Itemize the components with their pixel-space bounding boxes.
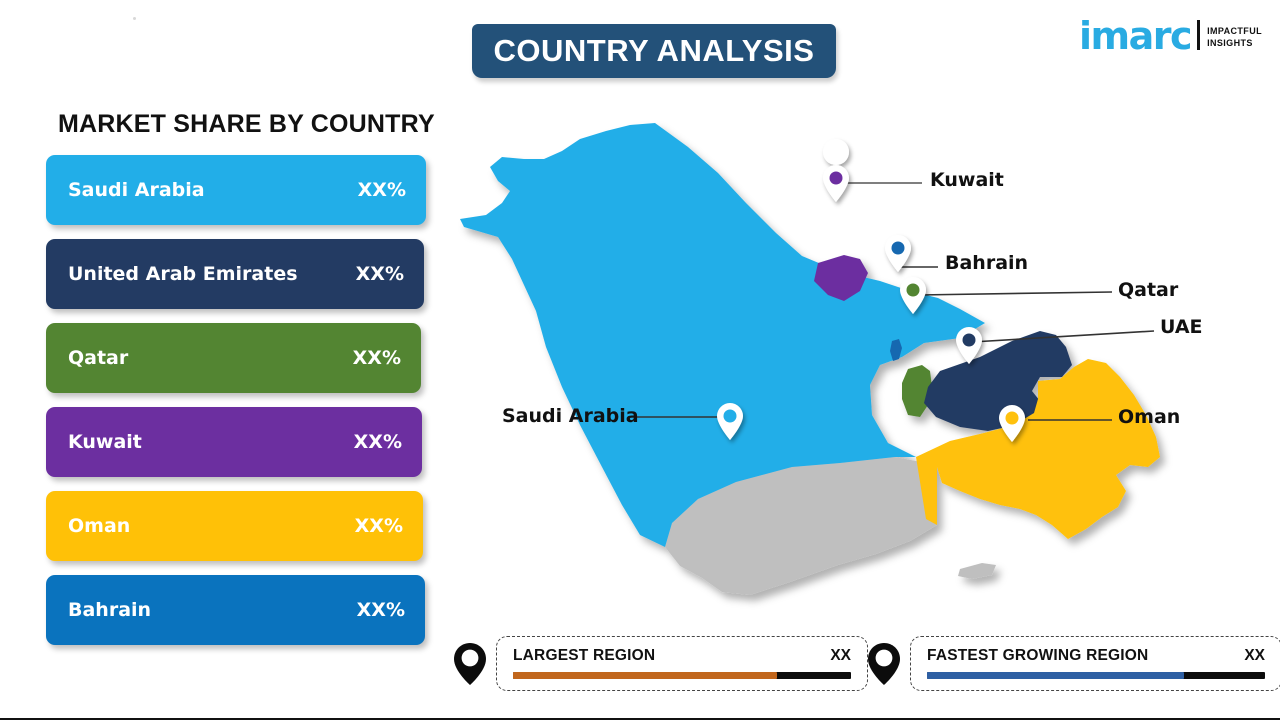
logo-tagline-bottom: INSIGHTS (1207, 37, 1262, 49)
page-title: COUNTRY ANALYSIS (494, 33, 815, 69)
map-label-kuwait: Kuwait (930, 169, 1004, 191)
map-label-oman: Oman (1118, 406, 1180, 428)
market-share-bar-list: Saudi ArabiaXX%United Arab EmiratesXX%Qa… (46, 155, 436, 659)
market-share-bar-value: XX% (355, 515, 403, 537)
fastest-region-value: XX (1244, 647, 1265, 665)
logo-divider (1197, 20, 1200, 50)
market-share-bar-label: Oman (68, 515, 130, 537)
market-share-bar-label: Kuwait (68, 431, 142, 453)
map-pin-icon (452, 641, 488, 687)
gcc-map: KuwaitBahrainQatarUAESaudi ArabiaOman (440, 95, 1250, 635)
fastest-region-card: FASTEST GROWING REGION XX (910, 636, 1280, 691)
market-share-bar[interactable]: OmanXX% (46, 491, 423, 561)
largest-region-label: LARGEST REGION (513, 647, 655, 665)
logo-wordmark: imarc (1079, 18, 1191, 54)
market-share-bar-label: Bahrain (68, 599, 151, 621)
largest-region-fill (513, 672, 777, 679)
market-share-bar-label: Qatar (68, 347, 128, 369)
imarc-logo: imarc IMPACTFUL INSIGHTS (1079, 12, 1262, 54)
fastest-region-label: FASTEST GROWING REGION (927, 647, 1148, 665)
logo-tagline: IMPACTFUL INSIGHTS (1207, 25, 1262, 49)
market-share-bar[interactable]: United Arab EmiratesXX% (46, 239, 424, 309)
largest-region-legend: LARGEST REGION XX (452, 636, 868, 691)
leader-line-uae (972, 331, 1154, 342)
market-share-bar-value: XX% (358, 179, 406, 201)
market-share-bar-value: XX% (353, 347, 401, 369)
fastest-region-fill (927, 672, 1184, 679)
largest-region-track (513, 672, 851, 679)
market-share-bar[interactable]: BahrainXX% (46, 575, 425, 645)
market-share-bar-label: United Arab Emirates (68, 263, 298, 285)
market-share-bar-value: XX% (357, 599, 405, 621)
map-pin-kuwait[interactable] (823, 139, 849, 202)
map-label-uae: UAE (1160, 316, 1203, 338)
leader-line-qatar (918, 292, 1112, 295)
slide-canvas: COUNTRY ANALYSIS imarc IMPACTFUL INSIGHT… (0, 0, 1280, 720)
decorative-speck (133, 17, 136, 20)
market-share-bar[interactable]: KuwaitXX% (46, 407, 422, 477)
map-label-bahrain: Bahrain (945, 252, 1028, 274)
market-share-bar-value: XX% (356, 263, 404, 285)
map-label-qatar: Qatar (1118, 279, 1178, 301)
map-label-saudi-arabia: Saudi Arabia (502, 405, 639, 427)
market-share-bar-value: XX% (354, 431, 402, 453)
logo-tagline-top: IMPACTFUL (1207, 25, 1262, 37)
market-share-bar[interactable]: QatarXX% (46, 323, 421, 393)
map-svg (440, 95, 1250, 635)
slide-title-band: COUNTRY ANALYSIS (472, 24, 836, 78)
fastest-region-track (927, 672, 1265, 679)
map-region-oman-exclave (958, 563, 996, 579)
largest-region-value: XX (830, 647, 851, 665)
market-share-bar[interactable]: Saudi ArabiaXX% (46, 155, 426, 225)
fastest-region-legend: FASTEST GROWING REGION XX (866, 636, 1280, 691)
map-pin-icon (866, 641, 902, 687)
largest-region-card: LARGEST REGION XX (496, 636, 868, 691)
market-share-bar-label: Saudi Arabia (68, 179, 205, 201)
market-share-heading: MARKET SHARE BY COUNTRY (58, 110, 435, 139)
